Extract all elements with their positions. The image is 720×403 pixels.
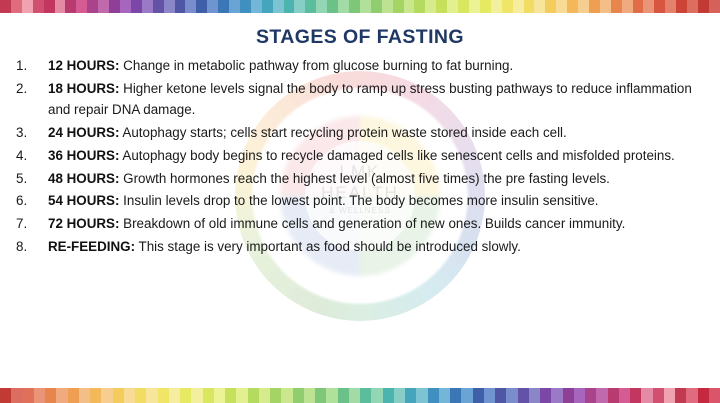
rainbow-bar: [360, 388, 371, 403]
rainbow-bar: [131, 0, 142, 13]
rainbow-bar: [589, 0, 600, 13]
fasting-infographic: LMK HEALTH & WELLNESS STAGES OF FASTING …: [0, 0, 720, 403]
rainbow-bar: [675, 388, 686, 403]
rainbow-bar: [540, 388, 551, 403]
rainbow-bar: [425, 0, 436, 13]
rainbow-bar: [11, 388, 22, 403]
rainbow-bar: [578, 0, 589, 13]
stage-label: 48 HOURS:: [48, 171, 119, 186]
rainbow-bar: [563, 388, 574, 403]
rainbow-bar: [338, 388, 349, 403]
rainbow-bar: [23, 388, 34, 403]
stage-item: 4.36 HOURS: Autophagy body begins to rec…: [14, 145, 698, 167]
rainbow-bar: [513, 0, 524, 13]
rainbow-bar: [270, 388, 281, 403]
stage-body: 18 HOURS: Higher ketone levels signal th…: [48, 78, 698, 121]
rainbow-bar: [76, 0, 87, 13]
stage-item: 8.RE-FEEDING: This stage is very importa…: [14, 236, 698, 258]
rainbow-bar: [315, 388, 326, 403]
rainbow-bar: [383, 388, 394, 403]
stages-list: 1.12 HOURS: Change in metabolic pathway …: [0, 55, 720, 257]
stage-item: 7.72 HOURS: Breakdown of old immune cell…: [14, 213, 698, 235]
rainbow-bar: [393, 0, 404, 13]
stage-body: 36 HOURS: Autophagy body begins to recyc…: [48, 145, 698, 167]
rainbow-bar: [687, 0, 698, 13]
rainbow-bar: [428, 388, 439, 403]
rainbow-bar: [281, 388, 292, 403]
rainbow-bar: [142, 0, 153, 13]
rainbow-bar: [65, 0, 76, 13]
rainbow-bar: [665, 0, 676, 13]
stage-body: 12 HOURS: Change in metabolic pathway fr…: [48, 55, 698, 77]
rainbow-bar: [567, 0, 578, 13]
rainbow-bar: [622, 0, 633, 13]
rainbow-bar: [225, 388, 236, 403]
rainbow-bar: [600, 0, 611, 13]
rainbow-bar: [405, 388, 416, 403]
rainbow-bar: [619, 388, 630, 403]
stage-body: 54 HOURS: Insulin levels drop to the low…: [48, 190, 698, 212]
rainbow-bar: [608, 388, 619, 403]
stage-label: RE-FEEDING:: [48, 239, 135, 254]
rainbow-bar: [196, 0, 207, 13]
stage-label: 72 HOURS:: [48, 216, 119, 231]
rainbow-bar: [643, 0, 654, 13]
rainbow-bar: [0, 0, 11, 13]
rainbow-bar: [214, 388, 225, 403]
rainbow-bar: [349, 0, 360, 13]
rainbow-bar: [135, 388, 146, 403]
rainbow-bar: [491, 0, 502, 13]
rainbow-bar: [495, 388, 506, 403]
stage-description: Breakdown of old immune cells and genera…: [119, 216, 625, 231]
rainbow-bar: [169, 388, 180, 403]
rainbow-bar: [529, 388, 540, 403]
rainbow-bar: [664, 388, 675, 403]
bottom-rainbow-border: [0, 388, 720, 403]
rainbow-bar: [450, 388, 461, 403]
content-area: STAGES OF FASTING 1.12 HOURS: Change in …: [0, 13, 720, 388]
rainbow-bar: [22, 0, 33, 13]
rainbow-bar: [633, 0, 644, 13]
rainbow-bar: [596, 388, 607, 403]
stage-description: Higher ketone levels signal the body to …: [48, 81, 692, 118]
rainbow-bar: [284, 0, 295, 13]
rainbow-bar: [158, 388, 169, 403]
rainbow-bar: [248, 388, 259, 403]
rainbow-bar: [480, 0, 491, 13]
rainbow-bar: [447, 0, 458, 13]
rainbow-bar: [240, 0, 251, 13]
rainbow-bar: [709, 388, 720, 403]
stage-label: 54 HOURS:: [48, 193, 119, 208]
rainbow-bar: [293, 388, 304, 403]
stage-number: 8.: [14, 236, 48, 258]
rainbow-bar: [33, 0, 44, 13]
rainbow-bar: [686, 388, 697, 403]
rainbow-bar: [229, 0, 240, 13]
rainbow-bar: [218, 0, 229, 13]
rainbow-bar: [180, 388, 191, 403]
stage-body: 72 HOURS: Breakdown of old immune cells …: [48, 213, 698, 235]
rainbow-bar: [698, 0, 709, 13]
stage-description: Insulin levels drop to the lowest point.…: [119, 193, 598, 208]
rainbow-bar: [360, 0, 371, 13]
rainbow-bar: [404, 0, 415, 13]
rainbow-bar: [349, 388, 360, 403]
rainbow-bar: [34, 388, 45, 403]
stage-description: This stage is very important as food sho…: [135, 239, 521, 254]
rainbow-bar: [87, 0, 98, 13]
rainbow-bar: [109, 0, 120, 13]
rainbow-bar: [44, 0, 55, 13]
stage-item: 2.18 HOURS: Higher ketone levels signal …: [14, 78, 698, 121]
stage-label: 36 HOURS:: [48, 148, 119, 163]
rainbow-bar: [0, 388, 11, 403]
stage-body: 24 HOURS: Autophagy starts; cells start …: [48, 122, 698, 144]
rainbow-bar: [585, 388, 596, 403]
rainbow-bar: [414, 0, 425, 13]
rainbow-bar: [203, 388, 214, 403]
rainbow-bar: [371, 388, 382, 403]
stage-item: 6.54 HOURS: Insulin levels drop to the l…: [14, 190, 698, 212]
rainbow-bar: [79, 388, 90, 403]
stage-number: 4.: [14, 145, 48, 167]
rainbow-bar: [262, 0, 273, 13]
rainbow-bar: [394, 388, 405, 403]
stage-number: 3.: [14, 122, 48, 144]
rainbow-bar: [556, 0, 567, 13]
stage-number: 2.: [14, 78, 48, 100]
stage-number: 1.: [14, 55, 48, 77]
rainbow-bar: [382, 0, 393, 13]
rainbow-bar: [676, 0, 687, 13]
stage-body: 48 HOURS: Growth hormones reach the high…: [48, 168, 698, 190]
rainbow-bar: [371, 0, 382, 13]
rainbow-bar: [436, 0, 447, 13]
rainbow-bar: [304, 388, 315, 403]
rainbow-bar: [502, 0, 513, 13]
stage-description: Growth hormones reach the highest level …: [119, 171, 609, 186]
rainbow-bar: [251, 0, 262, 13]
rainbow-bar: [45, 388, 56, 403]
rainbow-bar: [574, 388, 585, 403]
rainbow-bar: [327, 0, 338, 13]
rainbow-bar: [124, 388, 135, 403]
stage-label: 24 HOURS:: [48, 125, 119, 140]
rainbow-bar: [175, 0, 186, 13]
rainbow-bar: [185, 0, 196, 13]
rainbow-bar: [473, 388, 484, 403]
rainbow-bar: [545, 0, 556, 13]
rainbow-bar: [338, 0, 349, 13]
rainbow-bar: [653, 388, 664, 403]
stage-item: 5.48 HOURS: Growth hormones reach the hi…: [14, 168, 698, 190]
rainbow-bar: [146, 388, 157, 403]
page-title: STAGES OF FASTING: [0, 26, 720, 49]
rainbow-bar: [191, 388, 202, 403]
stage-item: 1.12 HOURS: Change in metabolic pathway …: [14, 55, 698, 77]
rainbow-bar: [294, 0, 305, 13]
rainbow-bar: [461, 388, 472, 403]
rainbow-bar: [236, 388, 247, 403]
stage-number: 5.: [14, 168, 48, 190]
rainbow-bar: [439, 388, 450, 403]
rainbow-bar: [120, 0, 131, 13]
rainbow-bar: [698, 388, 709, 403]
rainbow-bar: [641, 388, 652, 403]
rainbow-bar: [55, 0, 66, 13]
rainbow-bar: [611, 0, 622, 13]
rainbow-bar: [316, 0, 327, 13]
rainbow-bar: [458, 0, 469, 13]
rainbow-bar: [630, 388, 641, 403]
rainbow-bar: [113, 388, 124, 403]
rainbow-bar: [534, 0, 545, 13]
rainbow-bar: [484, 388, 495, 403]
rainbow-bar: [101, 388, 112, 403]
stage-label: 18 HOURS:: [48, 81, 119, 96]
rainbow-bar: [518, 388, 529, 403]
rainbow-bar: [259, 388, 270, 403]
rainbow-bar: [98, 0, 109, 13]
stage-description: Autophagy starts; cells start recycling …: [119, 125, 566, 140]
rainbow-bar: [709, 0, 720, 13]
rainbow-bar: [469, 0, 480, 13]
rainbow-bar: [90, 388, 101, 403]
stage-number: 7.: [14, 213, 48, 235]
stage-description: Autophagy body begins to recycle damaged…: [119, 148, 674, 163]
rainbow-bar: [551, 388, 562, 403]
rainbow-bar: [506, 388, 517, 403]
rainbow-bar: [68, 388, 79, 403]
rainbow-bar: [273, 0, 284, 13]
stage-label: 12 HOURS:: [48, 58, 119, 73]
rainbow-bar: [11, 0, 22, 13]
stage-body: RE-FEEDING: This stage is very important…: [48, 236, 698, 258]
rainbow-bar: [416, 388, 427, 403]
stage-item: 3.24 HOURS: Autophagy starts; cells star…: [14, 122, 698, 144]
stage-description: Change in metabolic pathway from glucose…: [119, 58, 513, 73]
rainbow-bar: [56, 388, 67, 403]
stage-number: 6.: [14, 190, 48, 212]
top-rainbow-border: [0, 0, 720, 13]
rainbow-bar: [326, 388, 337, 403]
rainbow-bar: [164, 0, 175, 13]
rainbow-bar: [207, 0, 218, 13]
rainbow-bar: [654, 0, 665, 13]
rainbow-bar: [305, 0, 316, 13]
rainbow-bar: [524, 0, 535, 13]
rainbow-bar: [153, 0, 164, 13]
